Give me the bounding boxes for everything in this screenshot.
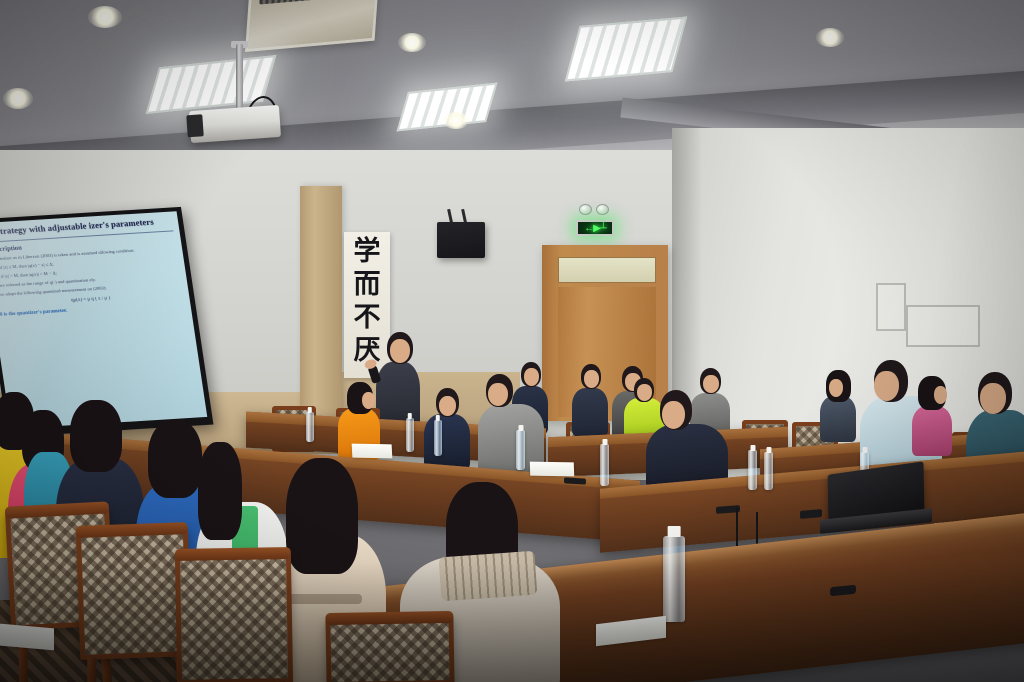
emergency-light-unit bbox=[576, 202, 614, 216]
slide-title: ol strategy with adjustable izer's param… bbox=[0, 216, 173, 238]
attendee-dark-back bbox=[572, 362, 608, 424]
paper-sheet[interactable] bbox=[0, 624, 54, 651]
water-bottle[interactable] bbox=[663, 536, 685, 622]
attendee-woman-pink bbox=[912, 378, 952, 444]
water-bottle[interactable] bbox=[306, 412, 314, 442]
attendee-grey-hoodie bbox=[478, 374, 544, 468]
exit-sign: ←▶┴ bbox=[576, 220, 614, 236]
conference-room-photo: 学 而 不 厌 ←▶┴ ol strategy with adjustable … bbox=[0, 0, 1024, 682]
notice-panel-2 bbox=[906, 305, 980, 347]
chair[interactable] bbox=[175, 551, 293, 682]
water-bottle[interactable] bbox=[434, 420, 442, 456]
downlight bbox=[88, 6, 122, 28]
paper-sheet[interactable] bbox=[352, 444, 393, 459]
ceiling-light-panel bbox=[565, 17, 687, 82]
coat-belt bbox=[288, 594, 362, 604]
wall-speaker bbox=[437, 222, 485, 258]
notice-panel-1 bbox=[876, 283, 906, 331]
calligraphy-char-2: 而 bbox=[354, 269, 381, 301]
presenter-face bbox=[390, 339, 410, 363]
paper-sheet[interactable] bbox=[530, 462, 574, 477]
exit-sign-glyph: ←▶┴ bbox=[584, 223, 606, 234]
downlight bbox=[443, 112, 469, 129]
attendee-navy-jacket bbox=[424, 388, 470, 460]
attendee-woman-glasses bbox=[820, 372, 856, 432]
water-bottle[interactable] bbox=[406, 418, 414, 452]
downlight bbox=[816, 28, 844, 47]
downlight bbox=[398, 33, 426, 52]
water-bottle[interactable] bbox=[764, 452, 773, 490]
plaid-scarf bbox=[439, 551, 538, 602]
desk-microphone[interactable] bbox=[564, 477, 586, 484]
water-bottle[interactable] bbox=[748, 450, 757, 490]
ceiling-projector bbox=[189, 105, 281, 143]
chair[interactable] bbox=[325, 615, 454, 682]
water-bottle[interactable] bbox=[516, 430, 525, 470]
downlight bbox=[3, 88, 33, 109]
calligraphy-char-1: 学 bbox=[354, 236, 381, 268]
projector-mount-pole bbox=[236, 44, 243, 116]
attendee-orange-jacket bbox=[338, 384, 380, 450]
door-transom-window bbox=[558, 257, 656, 283]
water-bottle[interactable] bbox=[600, 444, 609, 486]
